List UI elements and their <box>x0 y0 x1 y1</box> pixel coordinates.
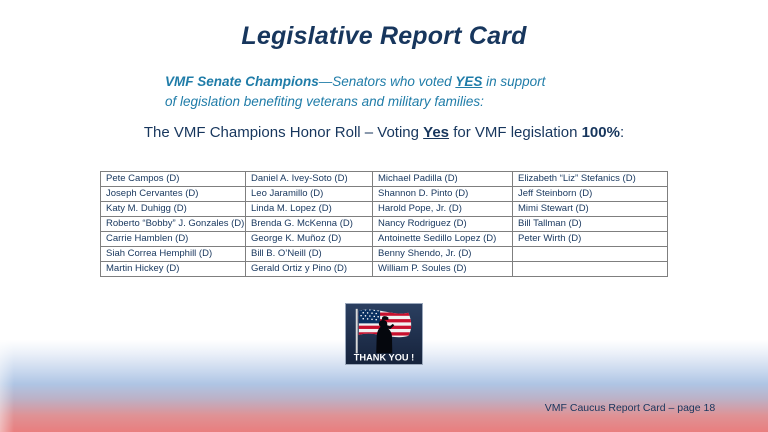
legislator-cell: Roberto “Bobby” J. Gonzales (D) <box>101 217 246 232</box>
subtitle-line-2: of legislation benefiting veterans and m… <box>165 94 484 109</box>
table-row: Katy M. Duhigg (D)Linda M. Lopez (D)Haro… <box>101 202 668 217</box>
legislator-cell: George K. Muñoz (D) <box>246 232 373 247</box>
table-row: Carrie Hamblen (D)George K. Muñoz (D)Ant… <box>101 232 668 247</box>
honor-roll-part-1: The VMF Champions Honor Roll – Voting <box>144 124 423 141</box>
empty-cell <box>513 262 668 277</box>
legislator-cell: Linda M. Lopez (D) <box>246 202 373 217</box>
empty-cell <box>513 247 668 262</box>
honor-roll-part-2: for VMF legislation <box>449 124 582 141</box>
legislator-cell: Antoinette Sedillo Lopez (D) <box>373 232 513 247</box>
subtitle-lead: VMF Senate Champions <box>165 74 319 89</box>
footer-note: VMF Caucus Report Card – page 18 <box>520 402 740 414</box>
thank-you-caption: THANK YOU ! <box>354 353 414 363</box>
page-title: Legislative Report Card <box>0 22 768 51</box>
legislator-cell: Joseph Cervantes (D) <box>101 187 246 202</box>
flag-salute-illustration: THANK YOU ! <box>346 304 422 364</box>
legislator-cell: William P. Soules (D) <box>373 262 513 277</box>
decorative-gradient-sheen <box>0 340 14 432</box>
table-row: Pete Campos (D)Daniel A. Ivey-Soto (D)Mi… <box>101 172 668 187</box>
legislator-cell: Daniel A. Ivey-Soto (D) <box>246 172 373 187</box>
table-row: Martin Hickey (D)Gerald Ortiz y Pino (D)… <box>101 262 668 277</box>
legislator-cell: Pete Campos (D) <box>101 172 246 187</box>
honor-roll-heading: The VMF Champions Honor Roll – Voting Ye… <box>0 124 768 141</box>
table-row: Joseph Cervantes (D)Leo Jaramillo (D)Sha… <box>101 187 668 202</box>
legislator-cell: Leo Jaramillo (D) <box>246 187 373 202</box>
legislator-cell: Martin Hickey (D) <box>101 262 246 277</box>
champions-table: Pete Campos (D)Daniel A. Ivey-Soto (D)Mi… <box>100 171 668 277</box>
legislator-cell: Mimi Stewart (D) <box>513 202 668 217</box>
table-row: Roberto “Bobby” J. Gonzales (D)Brenda G.… <box>101 217 668 232</box>
legislator-cell: Gerald Ortiz y Pino (D) <box>246 262 373 277</box>
honor-roll-yes-emphasis: Yes <box>423 124 449 141</box>
subtitle-yes-emphasis: YES <box>455 74 482 89</box>
subtitle-block: VMF Senate Champions—Senators who voted … <box>165 72 635 112</box>
legislator-cell: Nancy Rodriguez (D) <box>373 217 513 232</box>
table-row: Siah Correa Hemphill (D)Bill B. O’Neill … <box>101 247 668 262</box>
legislator-cell: Siah Correa Hemphill (D) <box>101 247 246 262</box>
subtitle-dash: — <box>319 74 333 89</box>
legislator-cell: Peter Wirth (D) <box>513 232 668 247</box>
legislator-cell: Shannon D. Pinto (D) <box>373 187 513 202</box>
legislator-cell: Benny Shendo, Jr. (D) <box>373 247 513 262</box>
legislator-cell: Michael Padilla (D) <box>373 172 513 187</box>
legislator-cell: Katy M. Duhigg (D) <box>101 202 246 217</box>
legislator-cell: Bill Tallman (D) <box>513 217 668 232</box>
legislator-cell: Jeff Steinborn (D) <box>513 187 668 202</box>
legislator-cell: Brenda G. McKenna (D) <box>246 217 373 232</box>
subtitle-text-before-yes: Senators who voted <box>332 74 455 89</box>
thank-you-flag-salute-image: THANK YOU ! <box>345 303 423 365</box>
legislator-cell: Harold Pope, Jr. (D) <box>373 202 513 217</box>
honor-roll-part-3: : <box>620 124 624 141</box>
subtitle-text-after-yes: in support <box>482 74 545 89</box>
legislator-cell: Carrie Hamblen (D) <box>101 232 246 247</box>
legislator-cell: Bill B. O’Neill (D) <box>246 247 373 262</box>
honor-roll-percent: 100% <box>582 124 620 141</box>
legislator-cell: Elizabeth “Liz” Stefanics (D) <box>513 172 668 187</box>
